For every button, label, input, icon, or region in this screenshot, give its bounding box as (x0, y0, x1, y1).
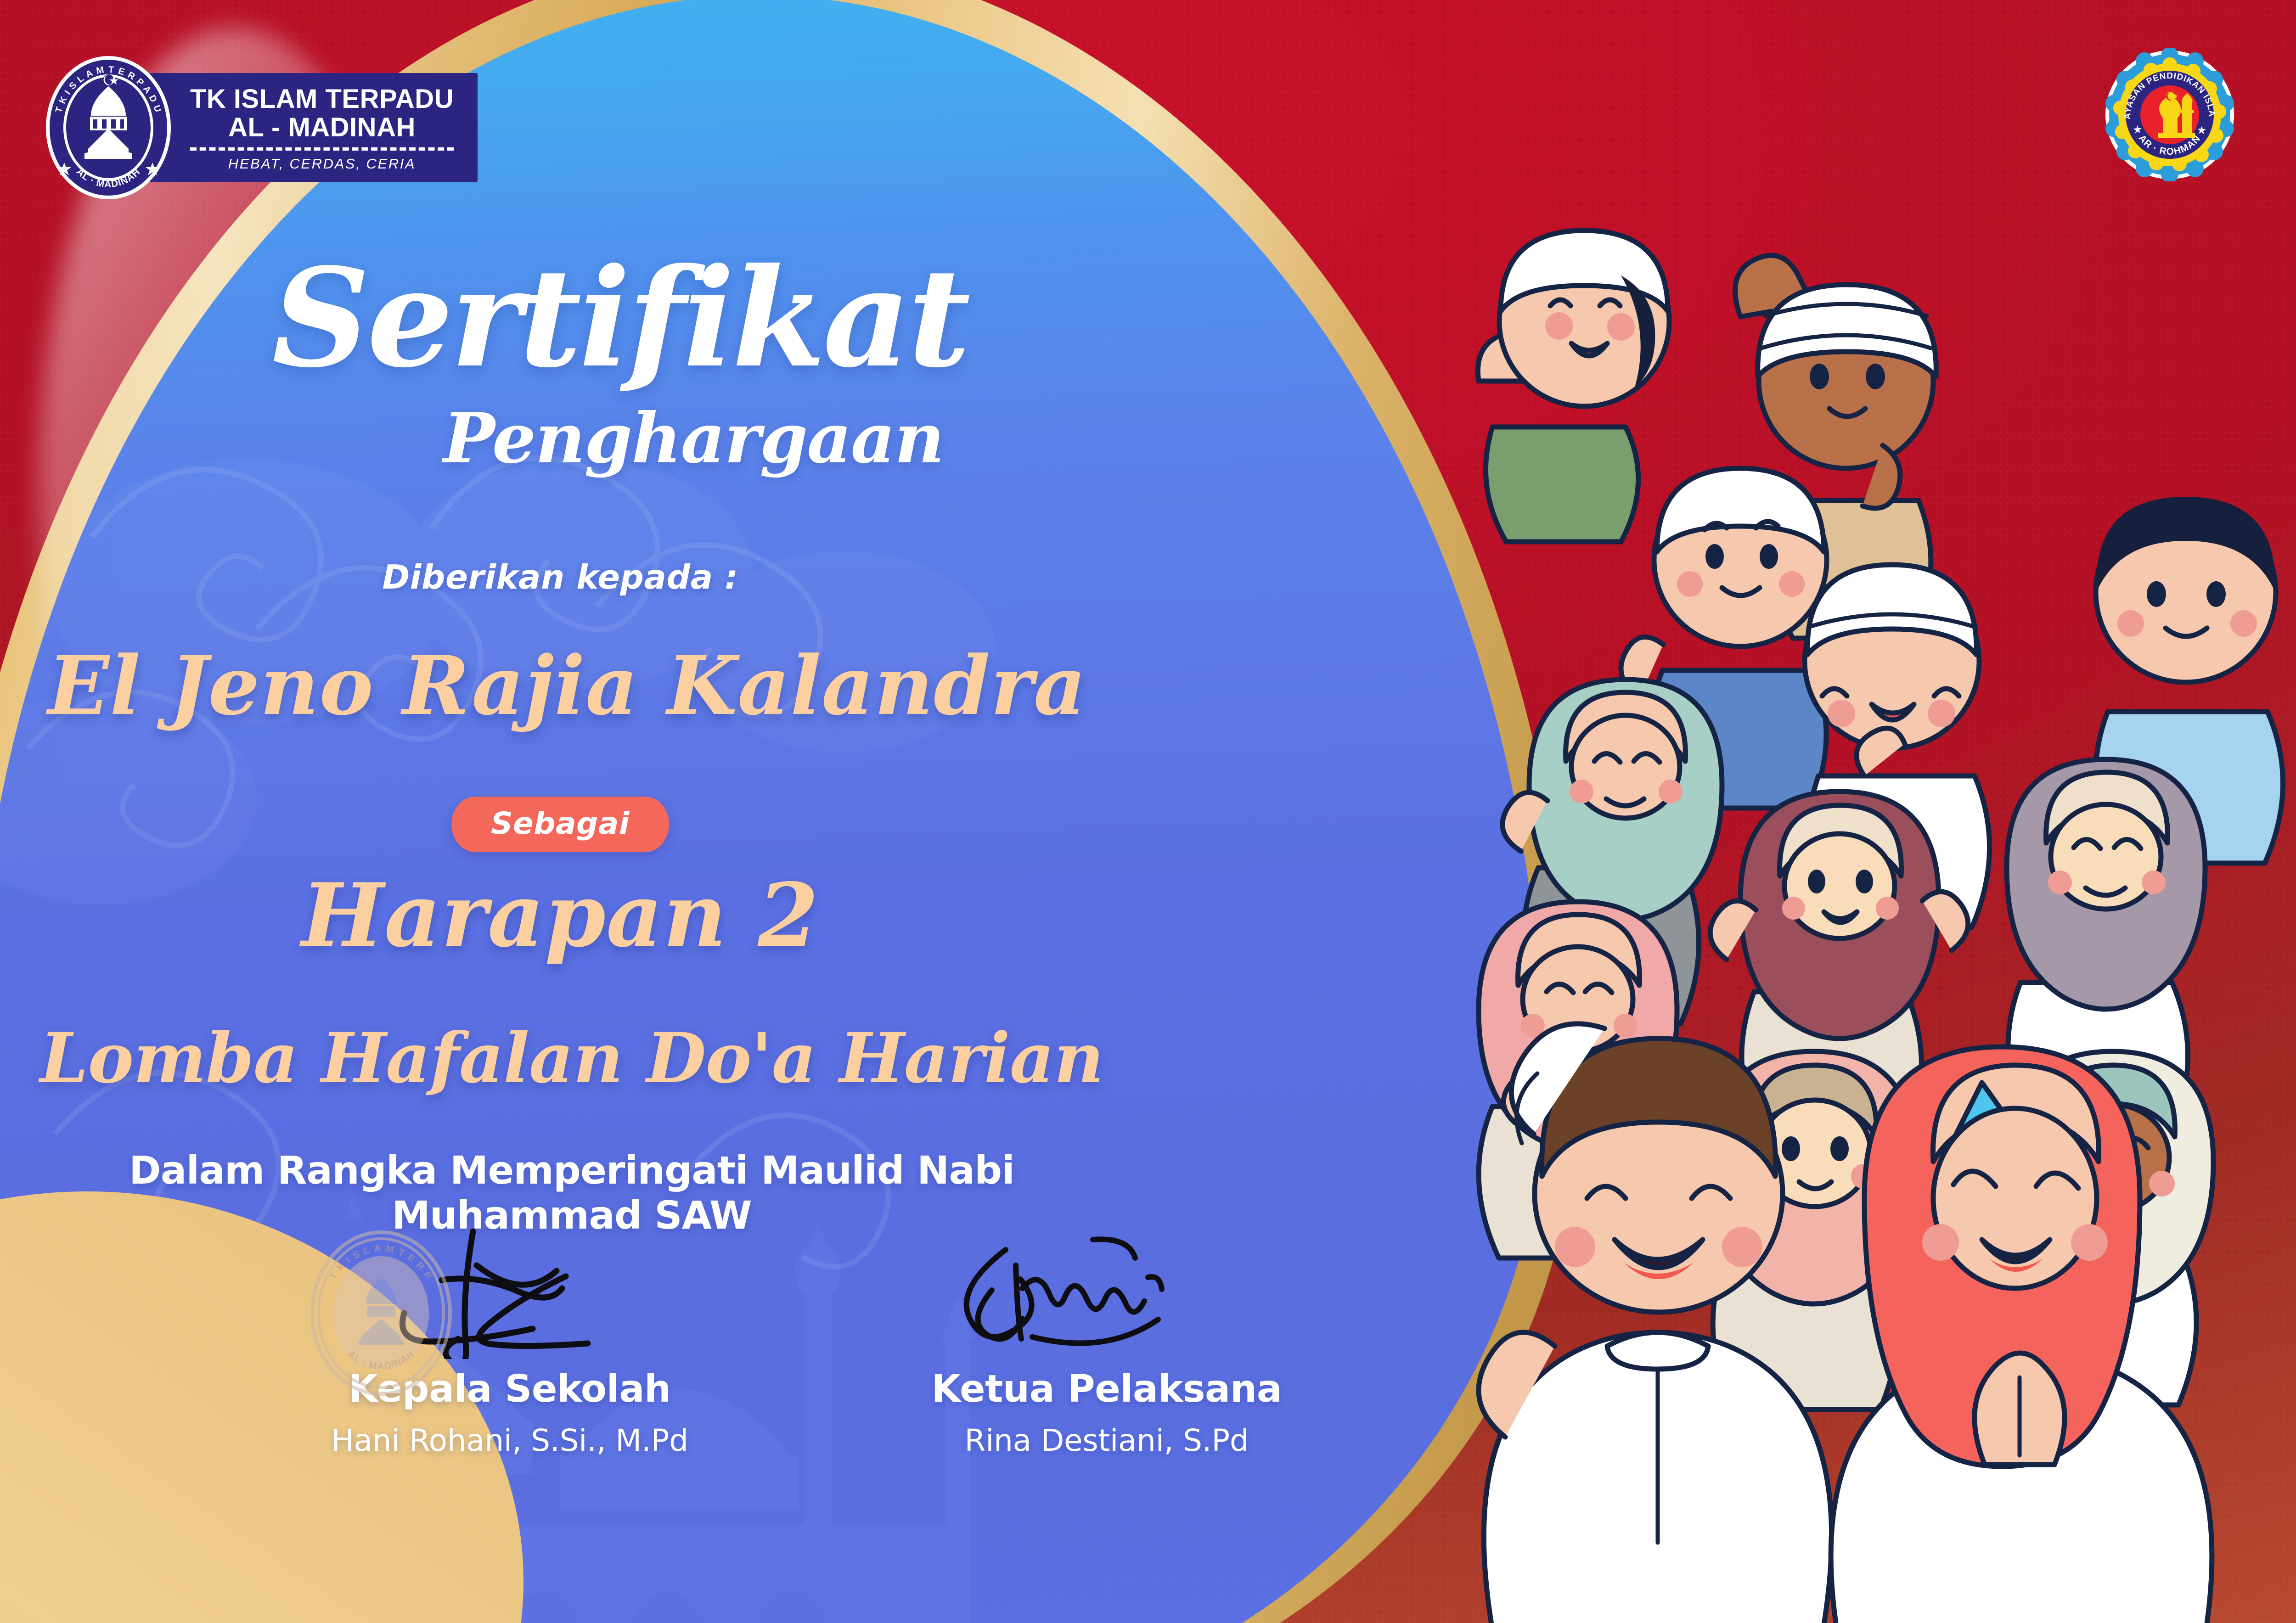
recipient-name: El Jeno Rajia Kalandra (0, 638, 1134, 734)
competition-title: Lomba Hafalan Do'a Harian (0, 1017, 1143, 1100)
signature-art-left: T K I S L A M T E R P AL · MADINAH (257, 1221, 762, 1359)
certificate-subtitle: Penghargaan (0, 404, 1387, 473)
certificate-text-block: Sertifikat Penghargaan Diberikan kepada … (0, 0, 1515, 1623)
signature-art-right (854, 1221, 1359, 1359)
given-to-label: Diberikan kepada : (0, 558, 1120, 596)
signature-role-right: Ketua Pelaksana (854, 1367, 1359, 1411)
as-badge-row: Sebagai (0, 797, 1120, 852)
certificate-title: Sertifikat (0, 250, 1240, 386)
handwritten-signature-right (854, 1221, 1359, 1359)
signature-block-principal: T K I S L A M T E R P AL · MADINAH (257, 1221, 762, 1458)
certificate-canvas: T K I S L A M T E R P A D U AL · MADINAH… (0, 0, 2296, 1623)
muslim-children-illustration (1424, 60, 2296, 1623)
signature-name-left: Hani Rohani, S.Si., M.Pd (257, 1423, 762, 1458)
signature-name-right: Rina Destiani, S.Pd (854, 1423, 1359, 1458)
as-badge: Sebagai (451, 797, 669, 852)
school-stamp-icon: T K I S L A M T E R P AL · MADINAH (305, 1226, 457, 1400)
award-rank: Harapan 2 (0, 863, 1120, 968)
signature-block-chairperson: Ketua Pelaksana Rina Destiani, S.Pd (854, 1221, 1359, 1458)
